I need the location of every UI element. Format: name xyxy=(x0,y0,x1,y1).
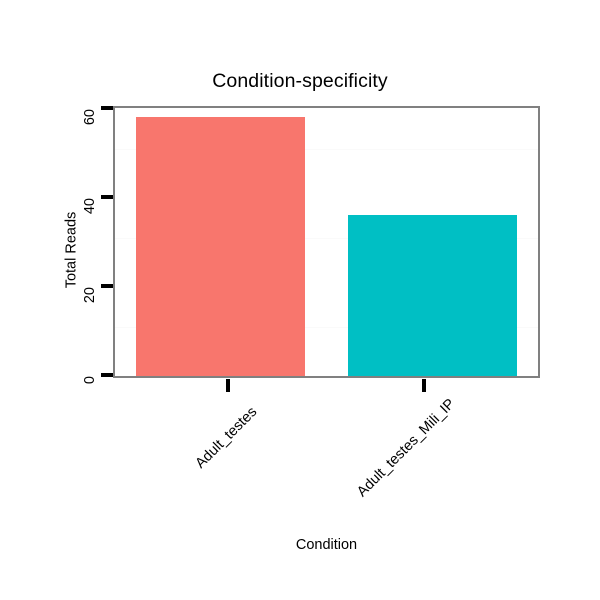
x-tick-label-adult-testes: Adult_testes xyxy=(192,404,260,472)
y-tick-mark-0 xyxy=(101,373,113,377)
chart-screenshot: Condition-specificity 60 40 20 0 Total R… xyxy=(0,0,600,600)
y-tick-label-0: 0 xyxy=(82,376,98,416)
y-tick-label-40: 40 xyxy=(82,198,98,238)
x-tick-mark-adult-testes xyxy=(226,379,230,392)
bar-adult-testes-mili-ip[interactable] xyxy=(348,215,517,376)
y-tick-label-20: 20 xyxy=(82,287,98,327)
y-tick-label-60: 60 xyxy=(82,109,98,149)
x-axis-title: Condition xyxy=(113,537,540,553)
y-tick-mark-60 xyxy=(101,106,113,110)
x-tick-mark-adult-testes-mili-ip xyxy=(422,379,426,392)
bar-adult-testes[interactable] xyxy=(136,117,305,376)
y-axis-title: Total Reads xyxy=(63,212,79,289)
y-tick-mark-20 xyxy=(101,284,113,288)
y-tick-mark-40 xyxy=(101,195,113,199)
x-tick-label-adult-testes-mili-ip: Adult_testes_Mili_IP xyxy=(354,404,450,500)
plot-panel xyxy=(113,106,540,378)
page-title: Condition-specificity xyxy=(0,70,600,93)
